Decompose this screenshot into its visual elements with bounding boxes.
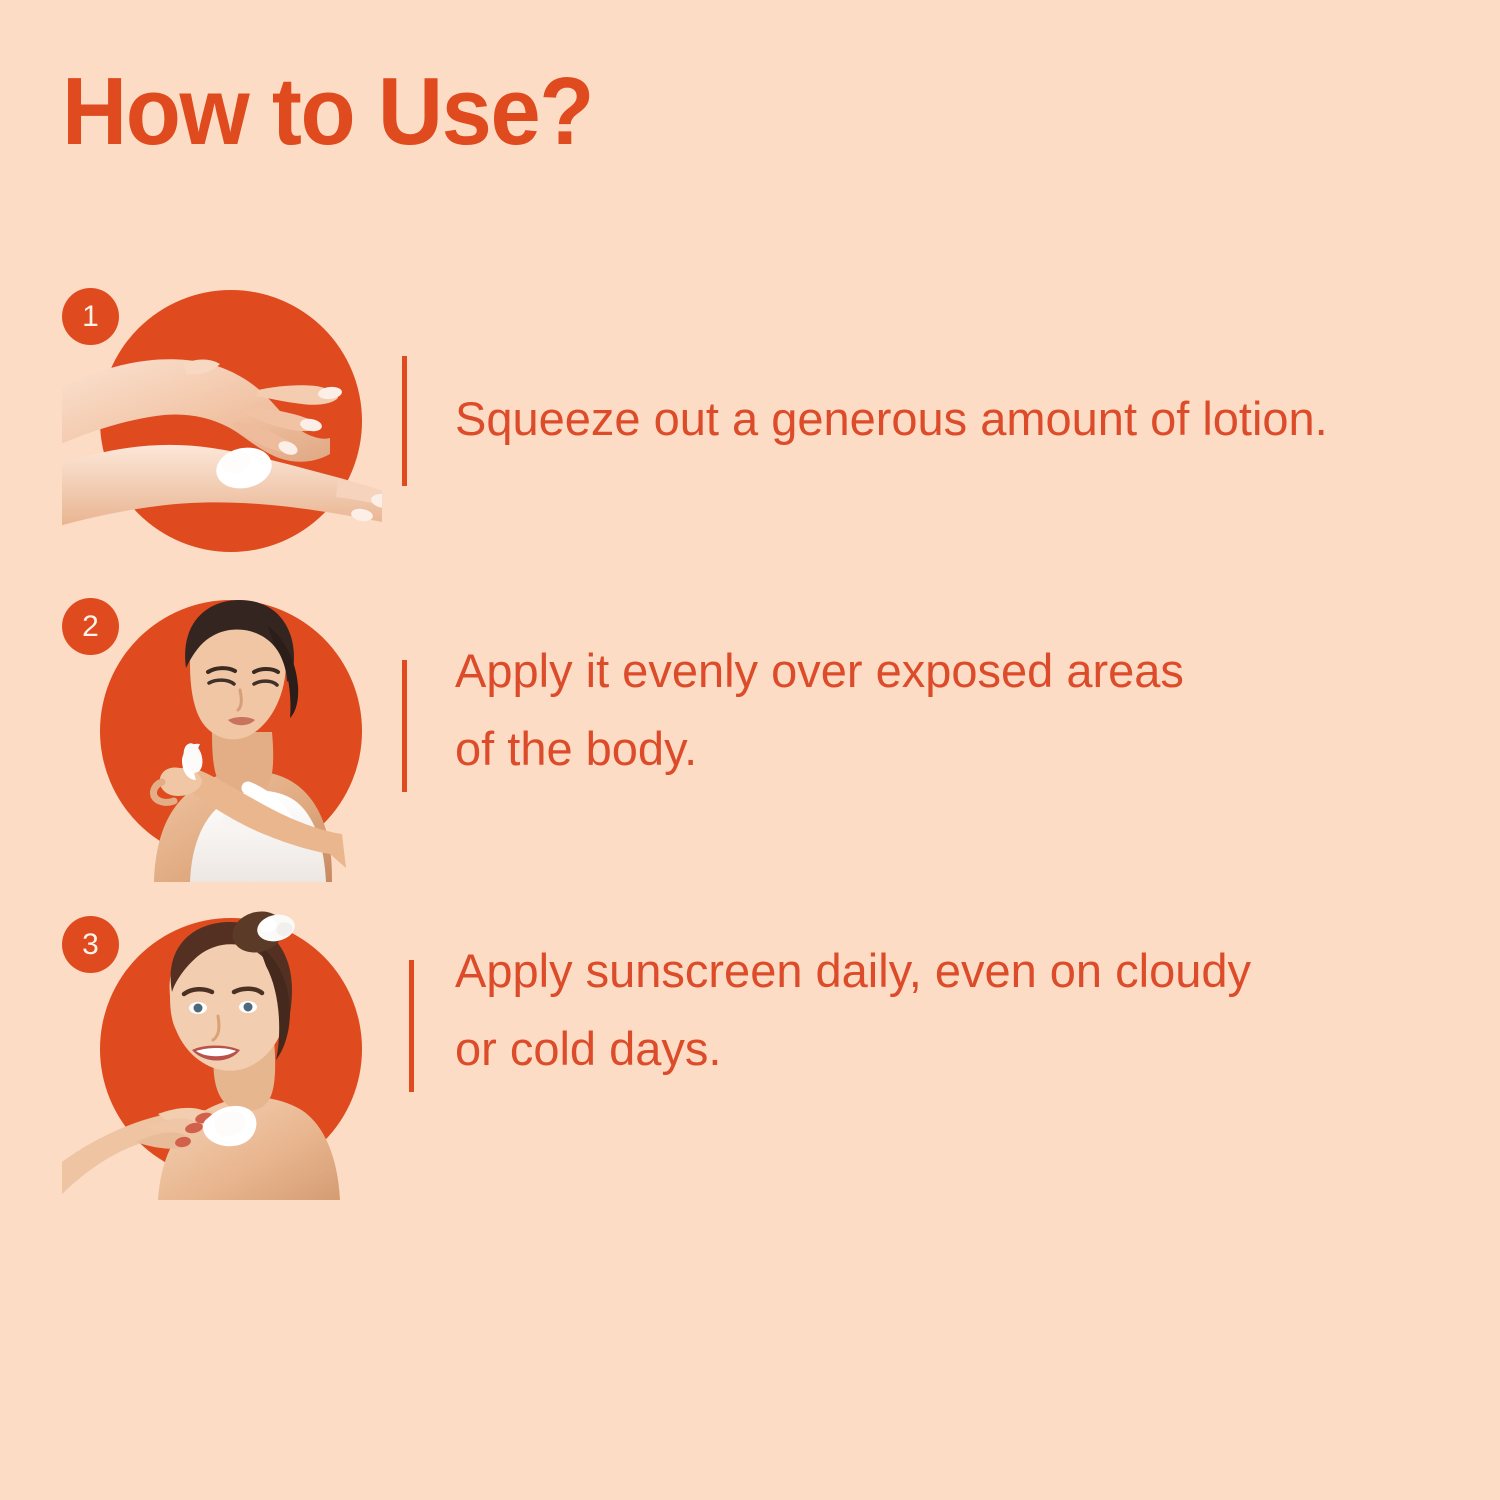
- step-2-caption: Apply it evenly over exposed areas of th…: [455, 632, 1455, 788]
- step-3-caption: Apply sunscreen daily, even on cloudy or…: [455, 932, 1455, 1088]
- step-3-circle-backdrop: [100, 918, 362, 1180]
- step-1-number-badge: 1: [62, 288, 119, 345]
- step-row: 2 Apply it evenly over exposed areas of …: [0, 572, 1500, 882]
- step-1-divider: [402, 356, 407, 486]
- step-row: 3 Apply sunscreen daily, even on cloudy …: [0, 882, 1500, 1202]
- how-to-use-infographic: How to Use?: [0, 0, 1500, 1500]
- steps-list: 1 Squeeze out a generous amount of lotio…: [0, 272, 1500, 1202]
- step-2-circle-backdrop: [100, 600, 362, 862]
- step-3-media: 3: [62, 900, 382, 1200]
- step-1-caption: Squeeze out a generous amount of lotion.: [455, 380, 1455, 458]
- step-3-number-badge: 3: [62, 916, 119, 973]
- page-title: How to Use?: [62, 62, 593, 163]
- step-row: 1 Squeeze out a generous amount of lotio…: [0, 272, 1500, 572]
- step-2-media: 2: [62, 582, 382, 882]
- step-1-circle-backdrop: [100, 290, 362, 552]
- step-3-divider: [409, 960, 414, 1092]
- step-1-media: 1: [62, 272, 382, 572]
- step-2-divider: [402, 660, 407, 792]
- step-2-number-badge: 2: [62, 598, 119, 655]
